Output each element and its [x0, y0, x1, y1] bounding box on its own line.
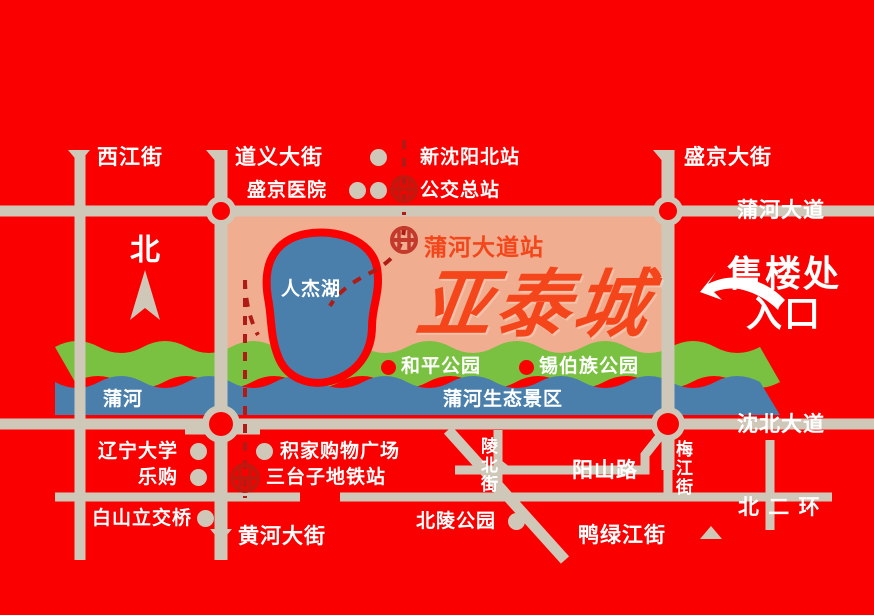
road-label-shenbei-dadao: 沈北大道 — [737, 414, 825, 435]
poi-label-jijia-mall: 积家购物广场 — [280, 442, 400, 461]
poi-label-xibozu-park: 锡伯族公园 — [539, 357, 639, 376]
poi-label-shengjing-hospital: 盛京医院 — [247, 181, 327, 200]
road-label-shengjing: 盛京大街 — [684, 147, 772, 168]
sales-office-line1: 售楼处 — [727, 254, 841, 295]
dot-liaoning-university — [190, 443, 207, 460]
marker-shengjing-icon — [653, 150, 675, 163]
road-label-huanghe: 黄河大街 — [238, 526, 326, 547]
marker-daoyi-icon — [206, 150, 228, 163]
dot-shengjing-hospital — [349, 182, 366, 199]
poi-label-beiling-park: 北陵公园 — [416, 512, 496, 531]
dot-beiling-park — [508, 513, 525, 530]
road-label-beierhuan: 北 二 环 — [738, 497, 821, 518]
dot-heping-park — [381, 360, 396, 375]
marker-huanghe-icon — [210, 529, 232, 542]
station-label-bus-terminal: 公交总站 — [420, 181, 500, 200]
road-label-lingbei: 陵北街 — [478, 437, 495, 494]
poi-label-liaoning-university: 辽宁大学 — [98, 442, 178, 461]
road-label-yalujiang: 鸭绿江街 — [578, 525, 666, 546]
road-label-yangshan: 阳山路 — [572, 460, 638, 481]
compass-label-north: 北 — [130, 236, 161, 266]
dot-baishan-interchange — [197, 510, 214, 527]
dot-north-railway — [370, 149, 387, 166]
road-label-meijiang: 梅江街 — [673, 440, 690, 497]
station-label-puhe-dadao: 蒲河大道站 — [424, 228, 544, 262]
dot-jijia-mall — [256, 443, 273, 460]
road-label-xijiang: 西江街 — [97, 147, 163, 168]
poi-label-renjie-lake: 人杰湖 — [281, 280, 341, 299]
poi-label-baishan-interchange: 白山立交桥 — [92, 509, 192, 528]
dot-xibozu-park — [519, 360, 534, 375]
road-label-daoyi: 道义大街 — [235, 147, 323, 168]
poi-label-puhe-eco-zone: 蒲河生态景区 — [443, 390, 563, 409]
poi-label-legou: 乐购 — [138, 468, 178, 487]
renjie-lake-shape — [267, 232, 378, 382]
marker-lingbei-icon — [501, 460, 511, 476]
sales-office-line2: 入口 — [746, 294, 822, 335]
dot-bus-terminal — [370, 182, 387, 199]
sales-office-label: 售楼处 入口 — [727, 255, 841, 336]
marker-xijiang-icon — [68, 150, 90, 163]
station-label-north-railway: 新沈阳北站 — [420, 148, 520, 167]
dot-legou — [190, 469, 207, 486]
project-title: 亚泰城 — [413, 268, 657, 342]
marker-yalujiang-icon — [700, 526, 722, 539]
poi-label-puhe-river: 蒲河 — [103, 390, 143, 409]
station-label-santaizi: 三台子地铁站 — [266, 468, 386, 487]
road-label-puhe-dadao: 蒲河大道 — [737, 200, 825, 221]
poi-label-heping-park: 和平公园 — [401, 357, 481, 376]
